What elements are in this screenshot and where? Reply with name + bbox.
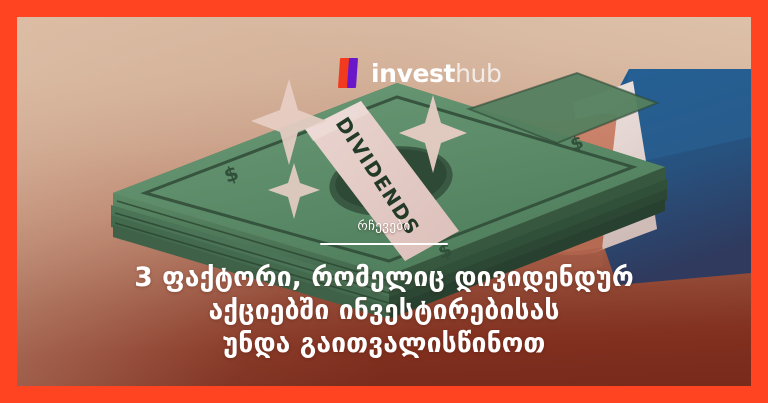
logo-word-light: hub (455, 59, 501, 88)
category-label[interactable]: რჩევები (357, 219, 410, 234)
logo-word-bold: invest (371, 59, 455, 88)
investhub-logo[interactable]: investhub (339, 58, 501, 88)
investhub-logo-mark-icon (339, 58, 361, 88)
headline-line-2: აქციებში ინვესტირებისას (43, 294, 725, 327)
headline-line-3: უნდა გაითვალისწინოთ (43, 327, 725, 360)
logo-wordmark: investhub (371, 61, 501, 86)
page-title: 3 ფაქტორი, რომელიც დივიდენდურ აქციებში ი… (43, 261, 725, 360)
artwork-canvas: $ $ $ DIVIDENDS (17, 17, 751, 386)
headline-line-1: 3 ფაქტორი, რომელიც დივიდენდურ (43, 261, 725, 294)
poster: $ $ $ DIVIDENDS (0, 0, 768, 403)
category-block: რჩევები (17, 215, 751, 245)
category-divider (320, 243, 448, 245)
logo-bar-purple (347, 58, 358, 88)
